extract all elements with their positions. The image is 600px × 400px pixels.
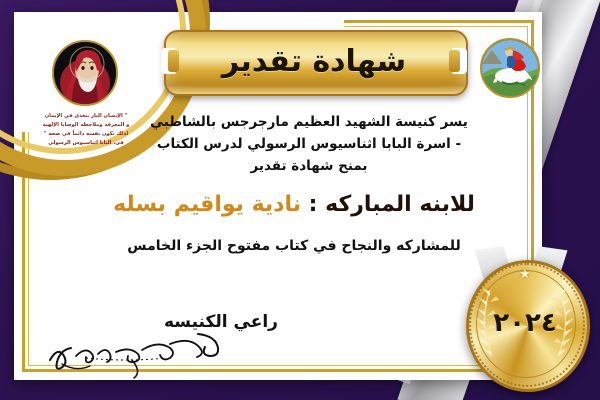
saint-george-icon [482,40,538,96]
signature-mark [42,330,282,382]
quote-line-3: لذلك تكون نفسه دائماً في صحة " [28,130,144,139]
quote-line-2: و المعرفة وملاحظة الوصايا الإلهية [28,121,144,130]
recipient-line: للابنه المباركه : نادية يواقيم بسله [84,192,504,217]
body-line-1: يسر كنيسة الشهيد العظيم مارجرجس بالشاطبي [134,112,484,134]
saint-george-portrait [480,38,540,98]
certificate-canvas: شهادة تقدير [0,0,600,400]
body-line-3: بمنح شهادة تقدير [134,156,484,178]
quote-source: فى. البابا اثناسيوس الرسولي [28,139,144,148]
certificate-title: شهادة تقدير [164,30,464,92]
quote-line-1: " الإنسان البار يتغذى في الإيمان [28,112,144,121]
seal-year: ٢٠٢٤ [466,260,584,386]
signature-title: راعي الكنيسه [164,312,278,332]
body-text: يسر كنيسة الشهيد العظيم مارجرجس بالشاطبي… [134,112,484,178]
title-ribbon: شهادة تقدير [164,30,464,92]
portrait-ring-left [52,40,118,106]
body-line-2: - اسرة البابا اثناسيوس الرسولي لدرس الكت… [134,134,484,156]
pope-athanasius-icon [54,42,116,104]
portrait-ring-right [480,38,540,98]
pope-athanasius-portrait [52,40,118,106]
recipient-name: نادية يواقيم بسله [113,192,301,217]
recipient-label: للابنه المباركه : [309,192,475,217]
achievement-line: للمشاركه والنجاح في كتاب مفتوح الجزء الخ… [84,238,504,254]
quote-block: " الإنسان البار يتغذى في الإيمان و المعر… [28,112,144,148]
gold-seal-badge: ★ ٢٠٢٤ [460,252,590,392]
